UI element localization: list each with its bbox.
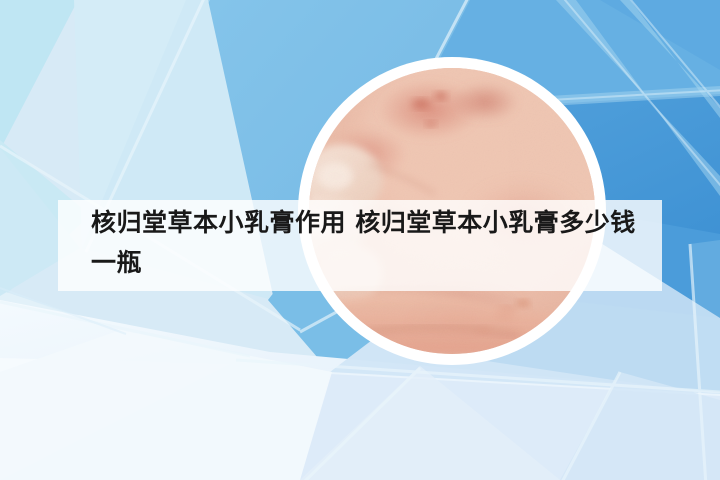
promo-image-canvas: 核归堂草本小乳膏作用 核归堂草本小乳膏多少钱一瓶	[0, 0, 720, 480]
page-title: 核归堂草本小乳膏作用 核归堂草本小乳膏多少钱一瓶	[91, 203, 651, 283]
